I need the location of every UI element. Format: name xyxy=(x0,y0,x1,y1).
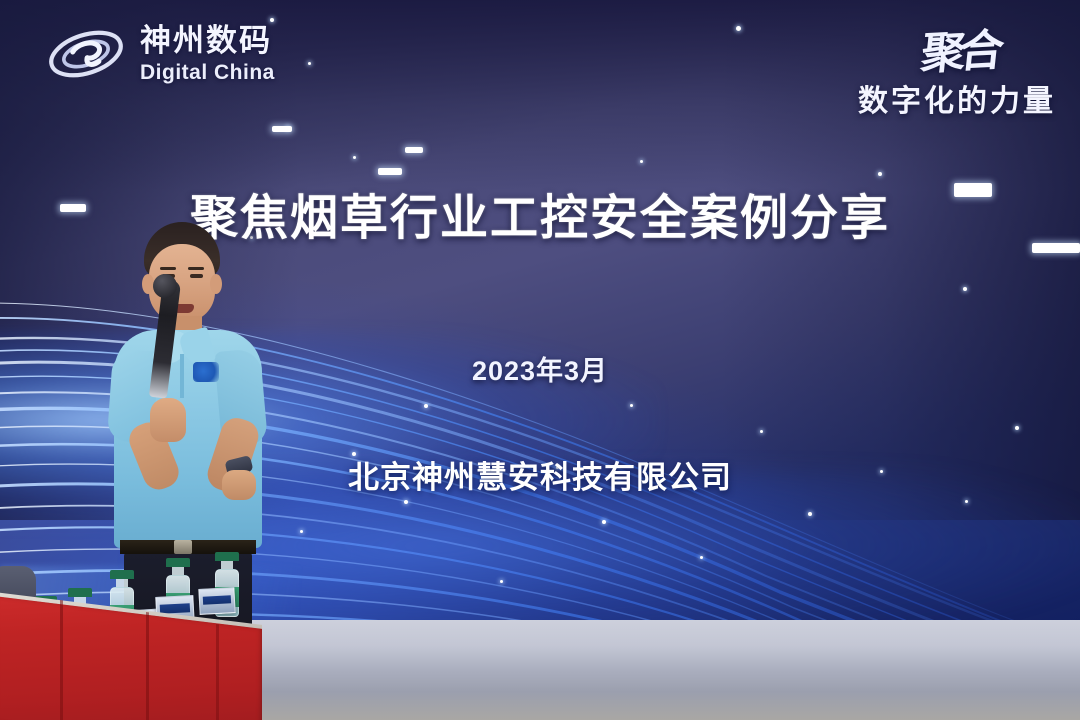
speaker-hand-holding-microphone xyxy=(150,398,186,442)
bottle-neck xyxy=(172,567,184,575)
star-particle xyxy=(640,160,643,163)
digital-china-spiral-icon xyxy=(44,18,128,90)
star-particle xyxy=(965,500,968,503)
star-particle xyxy=(424,404,428,408)
brand-name-en: Digital China xyxy=(140,62,275,83)
event-logo-subtitle: 数字化的力量 xyxy=(804,76,1056,120)
star-particle xyxy=(963,287,967,291)
star-particle xyxy=(700,556,703,559)
bottle-cap xyxy=(215,552,239,561)
speaker-shirt-placket xyxy=(180,354,184,398)
brand-name-cn: 神州数码 xyxy=(140,25,275,56)
light-bar-particle xyxy=(405,147,423,153)
bottle-neck xyxy=(116,579,128,587)
speaker-brow-right xyxy=(188,267,204,270)
event-logo-calligraphy-wrap: 聚合 xyxy=(804,16,1056,80)
light-bar-particle xyxy=(378,168,402,175)
star-particle xyxy=(878,172,882,176)
bottle-cap xyxy=(68,588,92,597)
bottle-cap xyxy=(166,558,190,567)
table-skirt-fold xyxy=(216,624,219,720)
star-particle xyxy=(404,500,408,504)
star-particle xyxy=(736,26,741,31)
star-particle xyxy=(308,62,311,65)
speaker-hand-right xyxy=(222,470,256,500)
star-particle xyxy=(760,430,763,433)
star-particle xyxy=(1015,426,1019,430)
star-particle xyxy=(300,530,303,533)
name-plate xyxy=(198,587,235,615)
star-particle xyxy=(500,580,503,583)
stage-photo: 神州数码 Digital China 聚合 数字化的力量 聚焦烟草行业工控安全案… xyxy=(0,0,1080,720)
light-bar-particle xyxy=(272,126,292,132)
star-particle xyxy=(808,512,812,516)
speaker-belt-buckle xyxy=(174,540,192,554)
brand-text: 神州数码 Digital China xyxy=(140,25,275,83)
star-particle xyxy=(353,156,356,159)
bottle-cap xyxy=(110,570,134,579)
table-skirt-fold xyxy=(60,600,63,720)
speaker-chest-logo xyxy=(193,362,219,382)
name-plate-strip xyxy=(202,595,231,605)
speaker-brow-left xyxy=(160,267,176,270)
star-particle xyxy=(602,520,606,524)
star-particle xyxy=(630,404,633,407)
table-skirt-fold xyxy=(146,612,149,720)
event-logo: 聚合 数字化的力量 xyxy=(804,16,1056,120)
event-logo-calligraphy: 聚合 xyxy=(918,14,1001,82)
brand-logo: 神州数码 Digital China xyxy=(44,18,275,90)
bottle-neck xyxy=(221,561,233,569)
speaker-eye-right xyxy=(190,274,203,278)
speaker-ear-right xyxy=(210,274,222,294)
